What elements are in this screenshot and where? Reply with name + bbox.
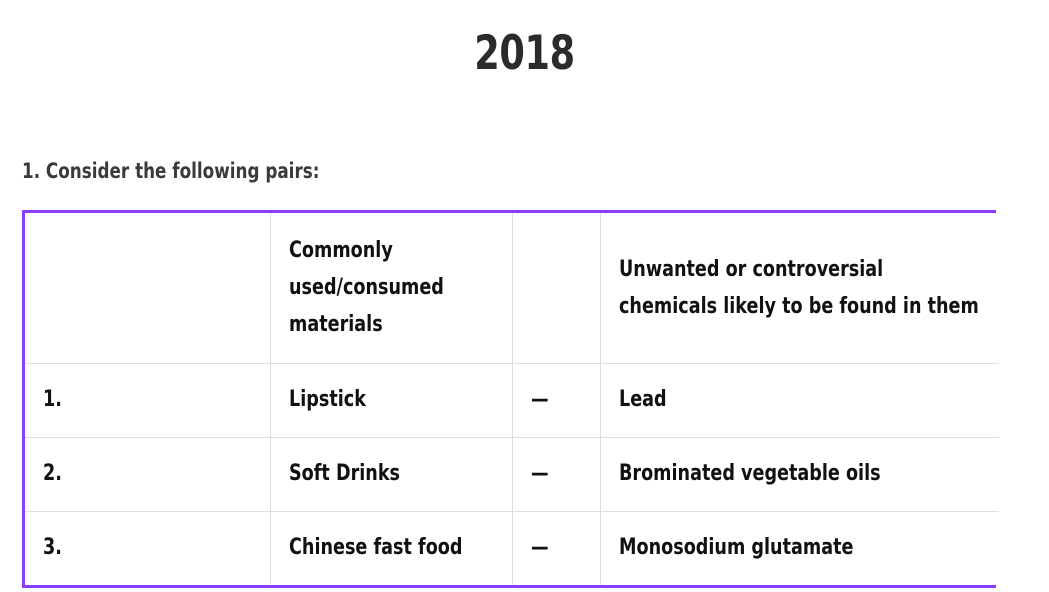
page-root: 2018 1. Consider the following pairs: Co… bbox=[0, 0, 1049, 592]
row-dash-label: — bbox=[531, 533, 582, 563]
header-materials-label: Commonly used/consumed materials bbox=[289, 232, 494, 343]
row-material-cell: Chinese fast food bbox=[270, 511, 512, 585]
row-chemical-label: Monosodium glutamate bbox=[619, 533, 982, 563]
header-cell-chemicals: Unwanted or controversial chemicals like… bbox=[600, 213, 999, 363]
pairs-table: Commonly used/consumed materials Unwante… bbox=[25, 213, 999, 585]
row-material-label: Soft Drinks bbox=[289, 459, 494, 489]
row-chemical-cell: Monosodium glutamate bbox=[600, 511, 999, 585]
header-cell-materials: Commonly used/consumed materials bbox=[270, 213, 512, 363]
row-material-cell: Soft Drinks bbox=[270, 437, 512, 511]
table-header-row: Commonly used/consumed materials Unwante… bbox=[25, 213, 999, 363]
row-chemical-label: Lead bbox=[619, 385, 982, 415]
page-title: 2018 bbox=[115, 26, 933, 82]
row-index-label: 2. bbox=[43, 459, 252, 489]
row-dash-label: — bbox=[531, 459, 582, 489]
table-row: 2. Soft Drinks — Brominated vegetable oi… bbox=[25, 437, 999, 511]
row-material-label: Lipstick bbox=[289, 385, 494, 415]
row-index-label: 3. bbox=[43, 533, 252, 563]
header-cell-index bbox=[25, 213, 270, 363]
row-index-label: 1. bbox=[43, 385, 252, 415]
header-chemicals-label: Unwanted or controversial chemicals like… bbox=[619, 251, 982, 325]
row-chemical-cell: Lead bbox=[600, 363, 999, 437]
header-cell-dash bbox=[512, 213, 600, 363]
question-prompt: 1. Consider the following pairs: bbox=[22, 158, 319, 184]
table-row: 3. Chinese fast food — Monosodium glutam… bbox=[25, 511, 999, 585]
row-index-cell: 1. bbox=[25, 363, 270, 437]
row-chemical-cell: Brominated vegetable oils bbox=[600, 437, 999, 511]
row-material-label: Chinese fast food bbox=[289, 533, 494, 563]
row-index-cell: 3. bbox=[25, 511, 270, 585]
row-index-cell: 2. bbox=[25, 437, 270, 511]
row-material-cell: Lipstick bbox=[270, 363, 512, 437]
table-row: 1. Lipstick — Lead bbox=[25, 363, 999, 437]
row-dash-cell: — bbox=[512, 437, 600, 511]
row-chemical-label: Brominated vegetable oils bbox=[619, 459, 982, 489]
row-dash-cell: — bbox=[512, 511, 600, 585]
row-dash-cell: — bbox=[512, 363, 600, 437]
row-dash-label: — bbox=[531, 385, 582, 415]
pairs-table-container: Commonly used/consumed materials Unwante… bbox=[22, 210, 996, 588]
